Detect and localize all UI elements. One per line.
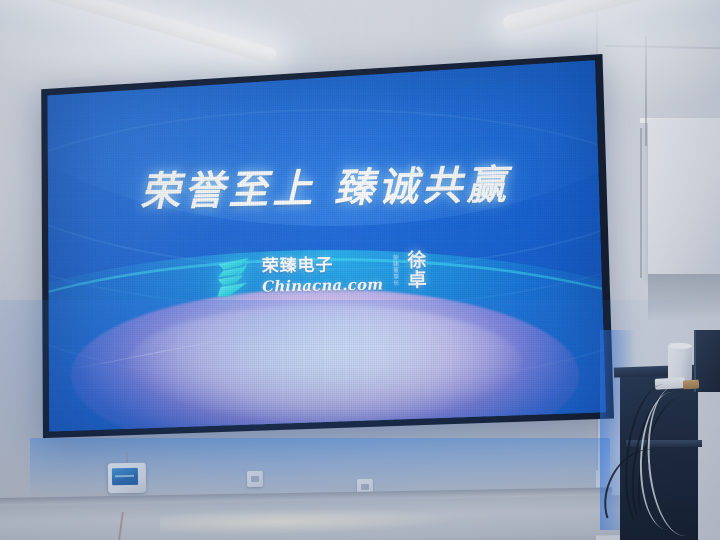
logo-company-url: Chinacna.com: [262, 277, 383, 294]
company-logo: 荣臻电子 Chinacna.com: [215, 254, 384, 297]
led-panel: 荣誉至上 臻诚共赢: [36, 54, 614, 446]
led-video-wall[interactable]: 荣誉至上 臻诚共赢: [36, 54, 614, 446]
wall-shelf: [648, 120, 720, 280]
signature-title: 荣臻董事长: [391, 254, 399, 290]
logo-text-block: 荣臻电子 Chinacna.com: [262, 256, 384, 294]
controller-lcd-screen: [112, 468, 138, 485]
wall-conduit-upper: [645, 36, 647, 146]
logo-company-name-cn: 荣臻电子: [262, 256, 383, 275]
floor-reflection: [160, 505, 460, 536]
shelf-underside: [648, 274, 720, 320]
wall-conduit-lower: [640, 128, 642, 278]
wall-controller-panel[interactable]: [108, 463, 147, 494]
slide-content: 荣誉至上 臻诚共赢: [36, 54, 614, 446]
power-adapter-tan: [683, 380, 699, 390]
photo-scene: 荣誉至上 臻诚共赢: [0, 0, 720, 540]
rongzhen-z-mark-icon: [215, 257, 254, 298]
signature-name: 徐卓: [403, 250, 431, 290]
wall-socket-left[interactable]: [247, 471, 263, 487]
signature-block: 荣臻董事长 徐卓: [391, 250, 430, 290]
slide-headline: 荣誉至上 臻诚共赢: [36, 150, 614, 219]
